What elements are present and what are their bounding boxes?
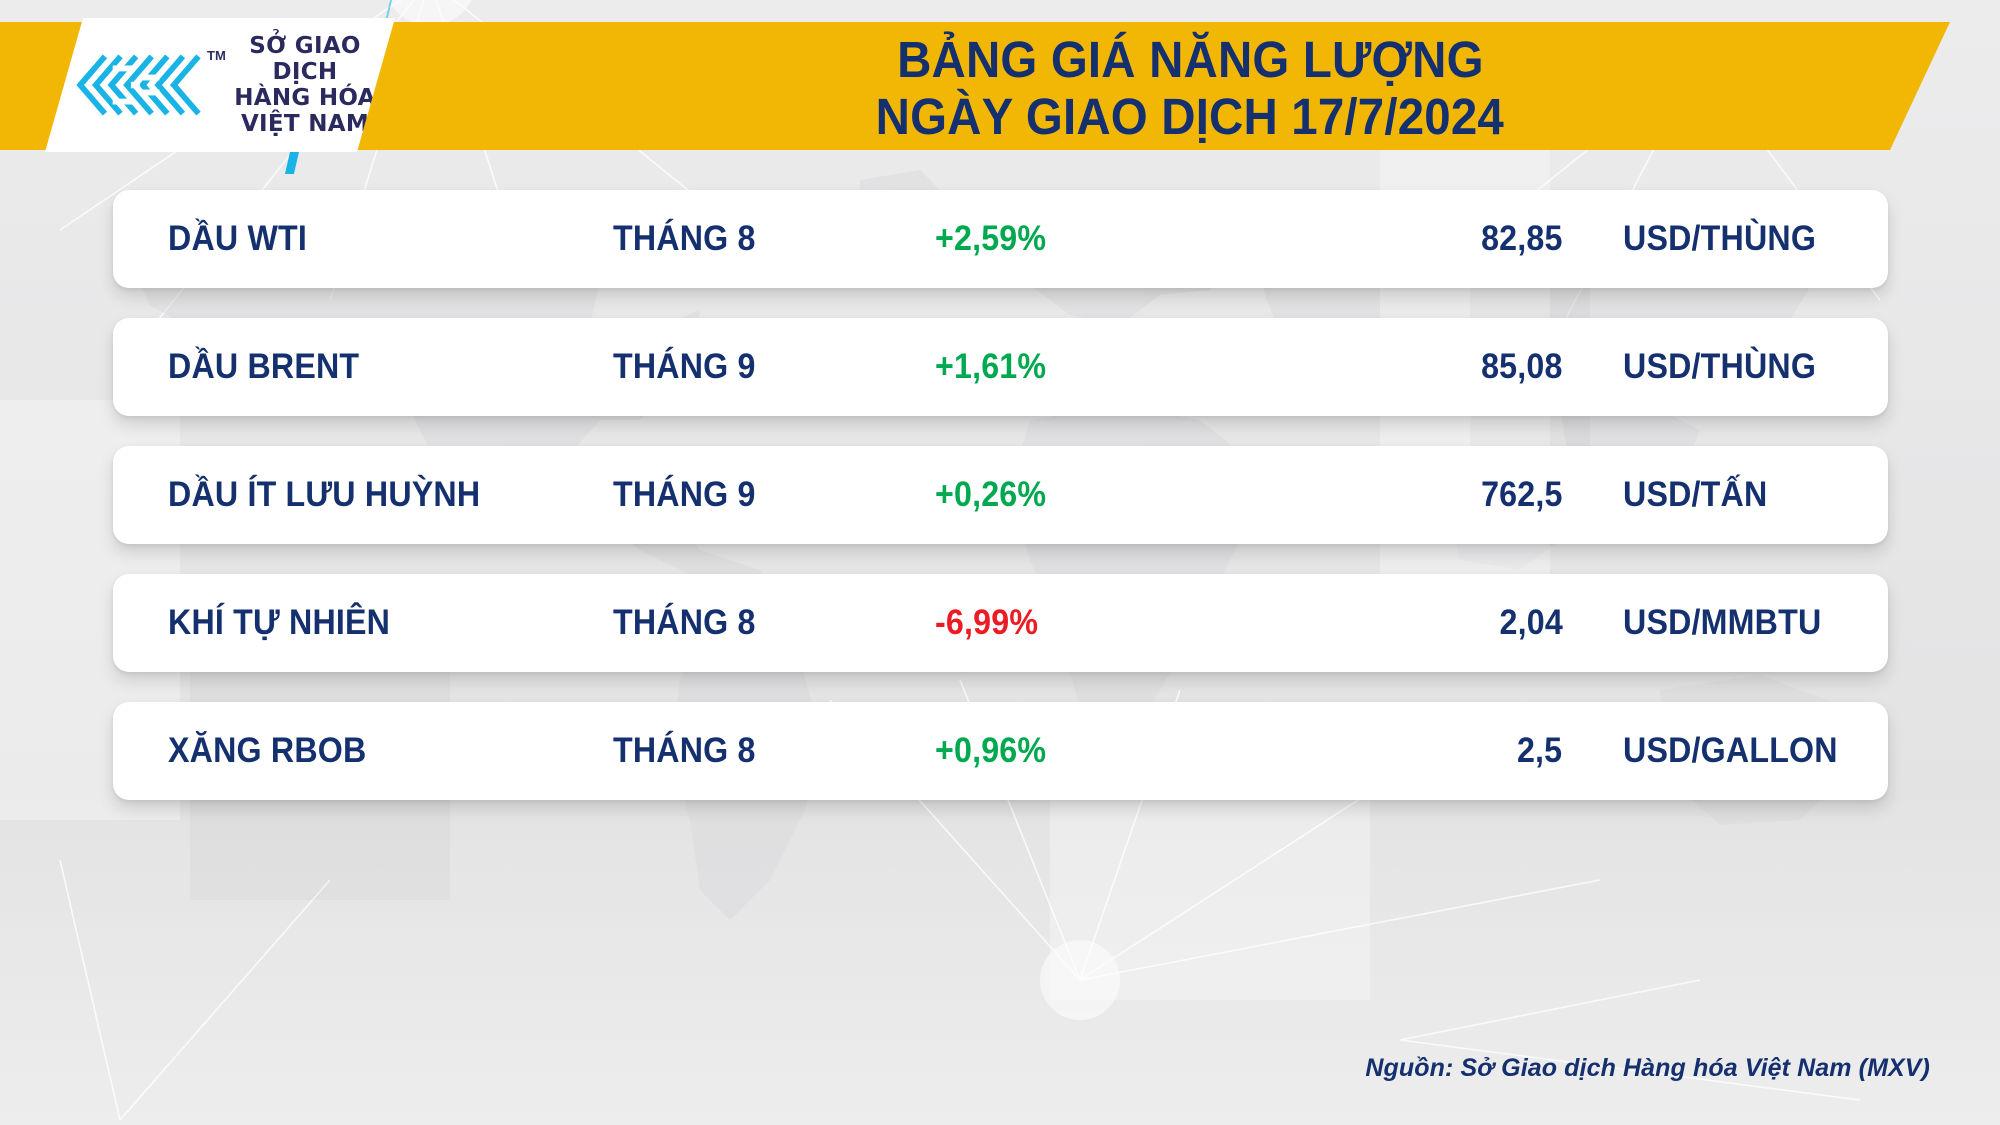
cell-contract-month: THÁNG 9 xyxy=(613,475,913,515)
cell-unit: USD/GALLON xyxy=(1563,731,1888,771)
table-row: DẦU ÍT LƯU HUỲNHTHÁNG 9+0,26%762,5USD/TẤ… xyxy=(113,446,1888,544)
cell-commodity-name: XĂNG RBOB xyxy=(113,731,613,771)
page-title: BẢNG GIÁ NĂNG LƯỢNG NGÀY GIAO DỊCH 17/7/… xyxy=(600,26,1780,150)
cell-commodity-name: DẦU ÍT LƯU HUỲNH xyxy=(113,475,613,515)
table-row: KHÍ TỰ NHIÊNTHÁNG 8-6,99%2,04USD/MMBTU xyxy=(113,574,1888,672)
cell-price: 2,04 xyxy=(1253,603,1563,643)
mxv-maze-logo-icon xyxy=(75,52,205,118)
cell-change-percent: +1,61% xyxy=(913,347,1253,387)
trademark-symbol: TM xyxy=(207,48,226,63)
title-line-1: BẢNG GIÁ NĂNG LƯỢNG xyxy=(897,31,1484,88)
table-row: DẦU WTITHÁNG 8+2,59%82,85USD/THÙNG xyxy=(113,190,1888,288)
cell-contract-month: THÁNG 8 xyxy=(613,219,913,259)
cell-commodity-name: KHÍ TỰ NHIÊN xyxy=(113,603,613,643)
cell-change-percent: -6,99% xyxy=(913,603,1253,643)
table-row: DẦU BRENTTHÁNG 9+1,61%85,08USD/THÙNG xyxy=(113,318,1888,416)
cell-change-percent: +0,96% xyxy=(913,731,1253,771)
cell-unit: USD/THÙNG xyxy=(1563,347,1888,387)
logo-line-2: HÀNG HÓA xyxy=(215,85,395,111)
cell-price: 85,08 xyxy=(1253,347,1563,387)
cell-contract-month: THÁNG 8 xyxy=(613,731,913,771)
cell-unit: USD/MMBTU xyxy=(1563,603,1888,643)
cell-price: 82,85 xyxy=(1253,219,1563,259)
cell-contract-month: THÁNG 8 xyxy=(613,603,913,643)
cell-commodity-name: DẦU BRENT xyxy=(113,347,613,387)
table-row: XĂNG RBOBTHÁNG 8+0,96%2,5USD/GALLON xyxy=(113,702,1888,800)
cell-unit: USD/TẤN xyxy=(1563,475,1888,515)
price-table: DẦU WTITHÁNG 8+2,59%82,85USD/THÙNGDẦU BR… xyxy=(0,190,2000,830)
logo-line-1: SỞ GIAO DỊCH xyxy=(215,33,395,85)
cell-unit: USD/THÙNG xyxy=(1563,219,1888,259)
cell-change-percent: +2,59% xyxy=(913,219,1253,259)
cell-price: 762,5 xyxy=(1253,475,1563,515)
cell-commodity-name: DẦU WTI xyxy=(113,219,613,259)
title-line-2: NGÀY GIAO DỊCH 17/7/2024 xyxy=(876,88,1504,145)
cell-change-percent: +0,26% xyxy=(913,475,1253,515)
page-header: TM SỞ GIAO DỊCH HÀNG HÓA VIỆT NAM BẢNG G… xyxy=(0,0,2000,180)
cell-contract-month: THÁNG 9 xyxy=(613,347,913,387)
logo-plate: TM SỞ GIAO DỊCH HÀNG HÓA VIỆT NAM xyxy=(45,18,395,152)
source-note: Nguồn: Sở Giao dịch Hàng hóa Việt Nam (M… xyxy=(1365,1054,1930,1083)
cell-price: 2,5 xyxy=(1253,731,1563,771)
